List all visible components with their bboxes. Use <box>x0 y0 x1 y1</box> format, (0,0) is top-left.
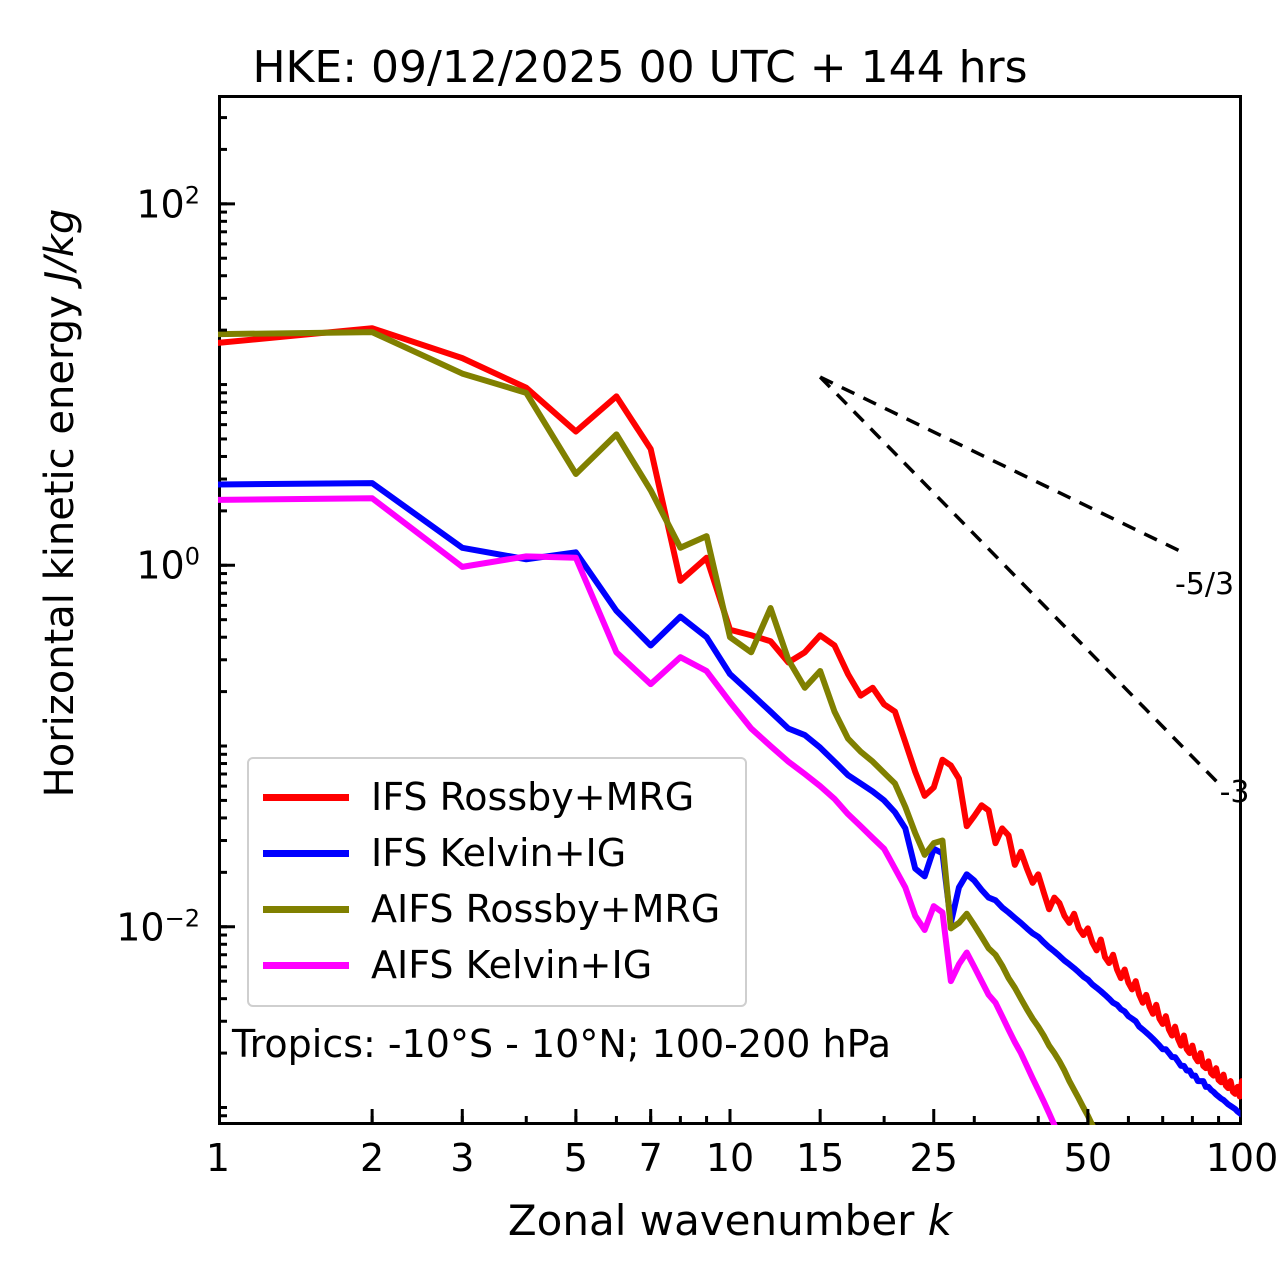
x-tick-label: 10 <box>706 1136 754 1180</box>
y-tick-label: 102 <box>96 181 200 226</box>
legend-item-aifs-kelvin-ig[interactable]: AIFS Kelvin+IG <box>263 937 731 993</box>
y-tick-label: 100 <box>96 543 200 588</box>
legend-color-swatch <box>263 906 349 913</box>
chart-legend[interactable]: IFS Rossby+MRGIFS Kelvin+IGAIFS Rossby+M… <box>247 757 747 1007</box>
legend-color-swatch <box>263 794 349 801</box>
x-axis-label-symbol: k <box>928 1196 952 1245</box>
y-axis-label: Horizontal kinetic energy J/kg <box>37 143 83 863</box>
slope-label--5-3: -5/3 <box>1175 567 1234 602</box>
legend-label: IFS Kelvin+IG <box>371 834 626 872</box>
y-axis-label-units: J/kg <box>37 209 83 283</box>
y-tick-label: 10−2 <box>96 904 200 949</box>
legend-item-aifs-rossby-mrg[interactable]: AIFS Rossby+MRG <box>263 881 731 937</box>
legend-color-swatch <box>263 850 349 857</box>
legend-label: AIFS Kelvin+IG <box>371 946 652 984</box>
y-axis-label-text: Horizontal kinetic energy <box>37 283 83 798</box>
reference-slope--5-3 <box>820 377 1187 554</box>
x-axis-label-text: Zonal wavenumber <box>508 1196 928 1245</box>
reference-slope--3 <box>820 377 1218 783</box>
x-tick-label: 7 <box>639 1136 663 1180</box>
x-tick-label: 50 <box>1064 1136 1112 1180</box>
x-tick-label: 100 <box>1206 1136 1279 1180</box>
region-annotation: Tropics: -10°S - 10°N; 100-200 hPa <box>232 1022 891 1066</box>
x-tick-label: 15 <box>796 1136 844 1180</box>
legend-label: AIFS Rossby+MRG <box>371 890 720 928</box>
legend-color-swatch <box>263 962 349 969</box>
chart-title: HKE: 09/12/2025 00 UTC + 144 hrs <box>0 42 1280 93</box>
x-tick-label: 5 <box>564 1136 588 1180</box>
chart-figure: HKE: 09/12/2025 00 UTC + 144 hrs Horizon… <box>0 0 1280 1288</box>
x-tick-label: 1 <box>206 1136 230 1180</box>
legend-item-ifs-kelvin-ig[interactable]: IFS Kelvin+IG <box>263 825 731 881</box>
x-tick-label: 2 <box>360 1136 384 1180</box>
x-tick-label: 25 <box>910 1136 958 1180</box>
legend-item-ifs-rossby-mrg[interactable]: IFS Rossby+MRG <box>263 769 731 825</box>
x-tick-label: 3 <box>450 1136 474 1180</box>
legend-label: IFS Rossby+MRG <box>371 778 694 816</box>
slope-label--3: -3 <box>1220 775 1250 810</box>
x-axis-label: Zonal wavenumber k <box>218 1196 1242 1245</box>
